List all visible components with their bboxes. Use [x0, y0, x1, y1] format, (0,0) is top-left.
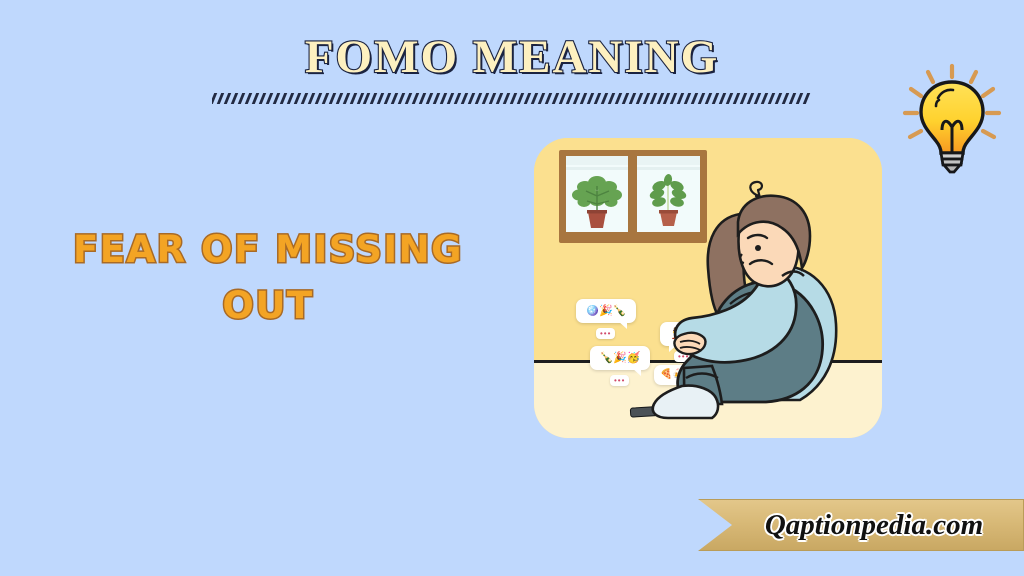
divider-dash: [273, 93, 280, 104]
divider-dash: [321, 93, 328, 104]
divider-dash: [287, 93, 294, 104]
divider-dash: [259, 93, 266, 104]
divider-dash: [580, 93, 587, 104]
divider-dash: [566, 93, 573, 104]
divider-dash: [238, 93, 245, 104]
divider-dash: [335, 93, 342, 104]
sad-girl-with-phone-illustration: 🪩🎉🍾 ••• 💃🎈🕺 ••• 🍾🎉🥳 ••• 🍕🍻🍔: [534, 138, 882, 438]
divider-dash: [545, 93, 552, 104]
divider-dash: [280, 93, 287, 104]
subtitle-block: FEAR OF MISSING OUT: [28, 222, 508, 334]
lightbulb-base-tip: [944, 165, 960, 172]
poster-canvas: FOMO MEANING FEAR OF MISSING OUT: [0, 0, 1024, 576]
divider-dash: [573, 93, 580, 104]
divider-dash: [600, 93, 607, 104]
divider-dash: [231, 93, 238, 104]
divider-dash: [628, 93, 635, 104]
divider-dash: [559, 93, 566, 104]
sad-girl-figure: [534, 138, 882, 438]
divider-dash: [245, 93, 252, 104]
divider-dash: [328, 93, 335, 104]
divider-dash: [614, 93, 621, 104]
divider-dash: [293, 93, 300, 104]
divider-dash: [552, 93, 559, 104]
divider-dash: [307, 93, 314, 104]
divider-dash: [314, 93, 321, 104]
lightbulb-icon: [897, 58, 1007, 178]
hands: [674, 333, 705, 354]
page-title: FOMO MEANING: [0, 34, 1024, 81]
divider-dash: [587, 93, 594, 104]
subtitle-line-1: FEAR OF MISSING: [73, 228, 463, 271]
divider-dash: [531, 93, 538, 104]
qaptionpedia-ribbon: Qaptionpedia.com: [698, 499, 1024, 551]
dashed-divider: [212, 93, 812, 104]
eye: [755, 245, 761, 251]
divider-dash: [252, 93, 259, 104]
subtitle-line-2: OUT: [28, 278, 508, 334]
divider-dash: [342, 93, 349, 104]
divider-dash: [349, 93, 356, 104]
divider-dash: [266, 93, 273, 104]
divider-dash: [593, 93, 600, 104]
divider-dash: [649, 93, 656, 104]
divider-dash: [607, 93, 614, 104]
divider-dash: [803, 93, 810, 104]
sock-foot: [653, 386, 718, 418]
divider-dash: [538, 93, 545, 104]
watermark-text: Qaptionpedia.com: [698, 499, 1024, 551]
divider-dash: [642, 93, 649, 104]
divider-dash: [621, 93, 628, 104]
divider-dash: [300, 93, 307, 104]
divider-dash: [635, 93, 642, 104]
